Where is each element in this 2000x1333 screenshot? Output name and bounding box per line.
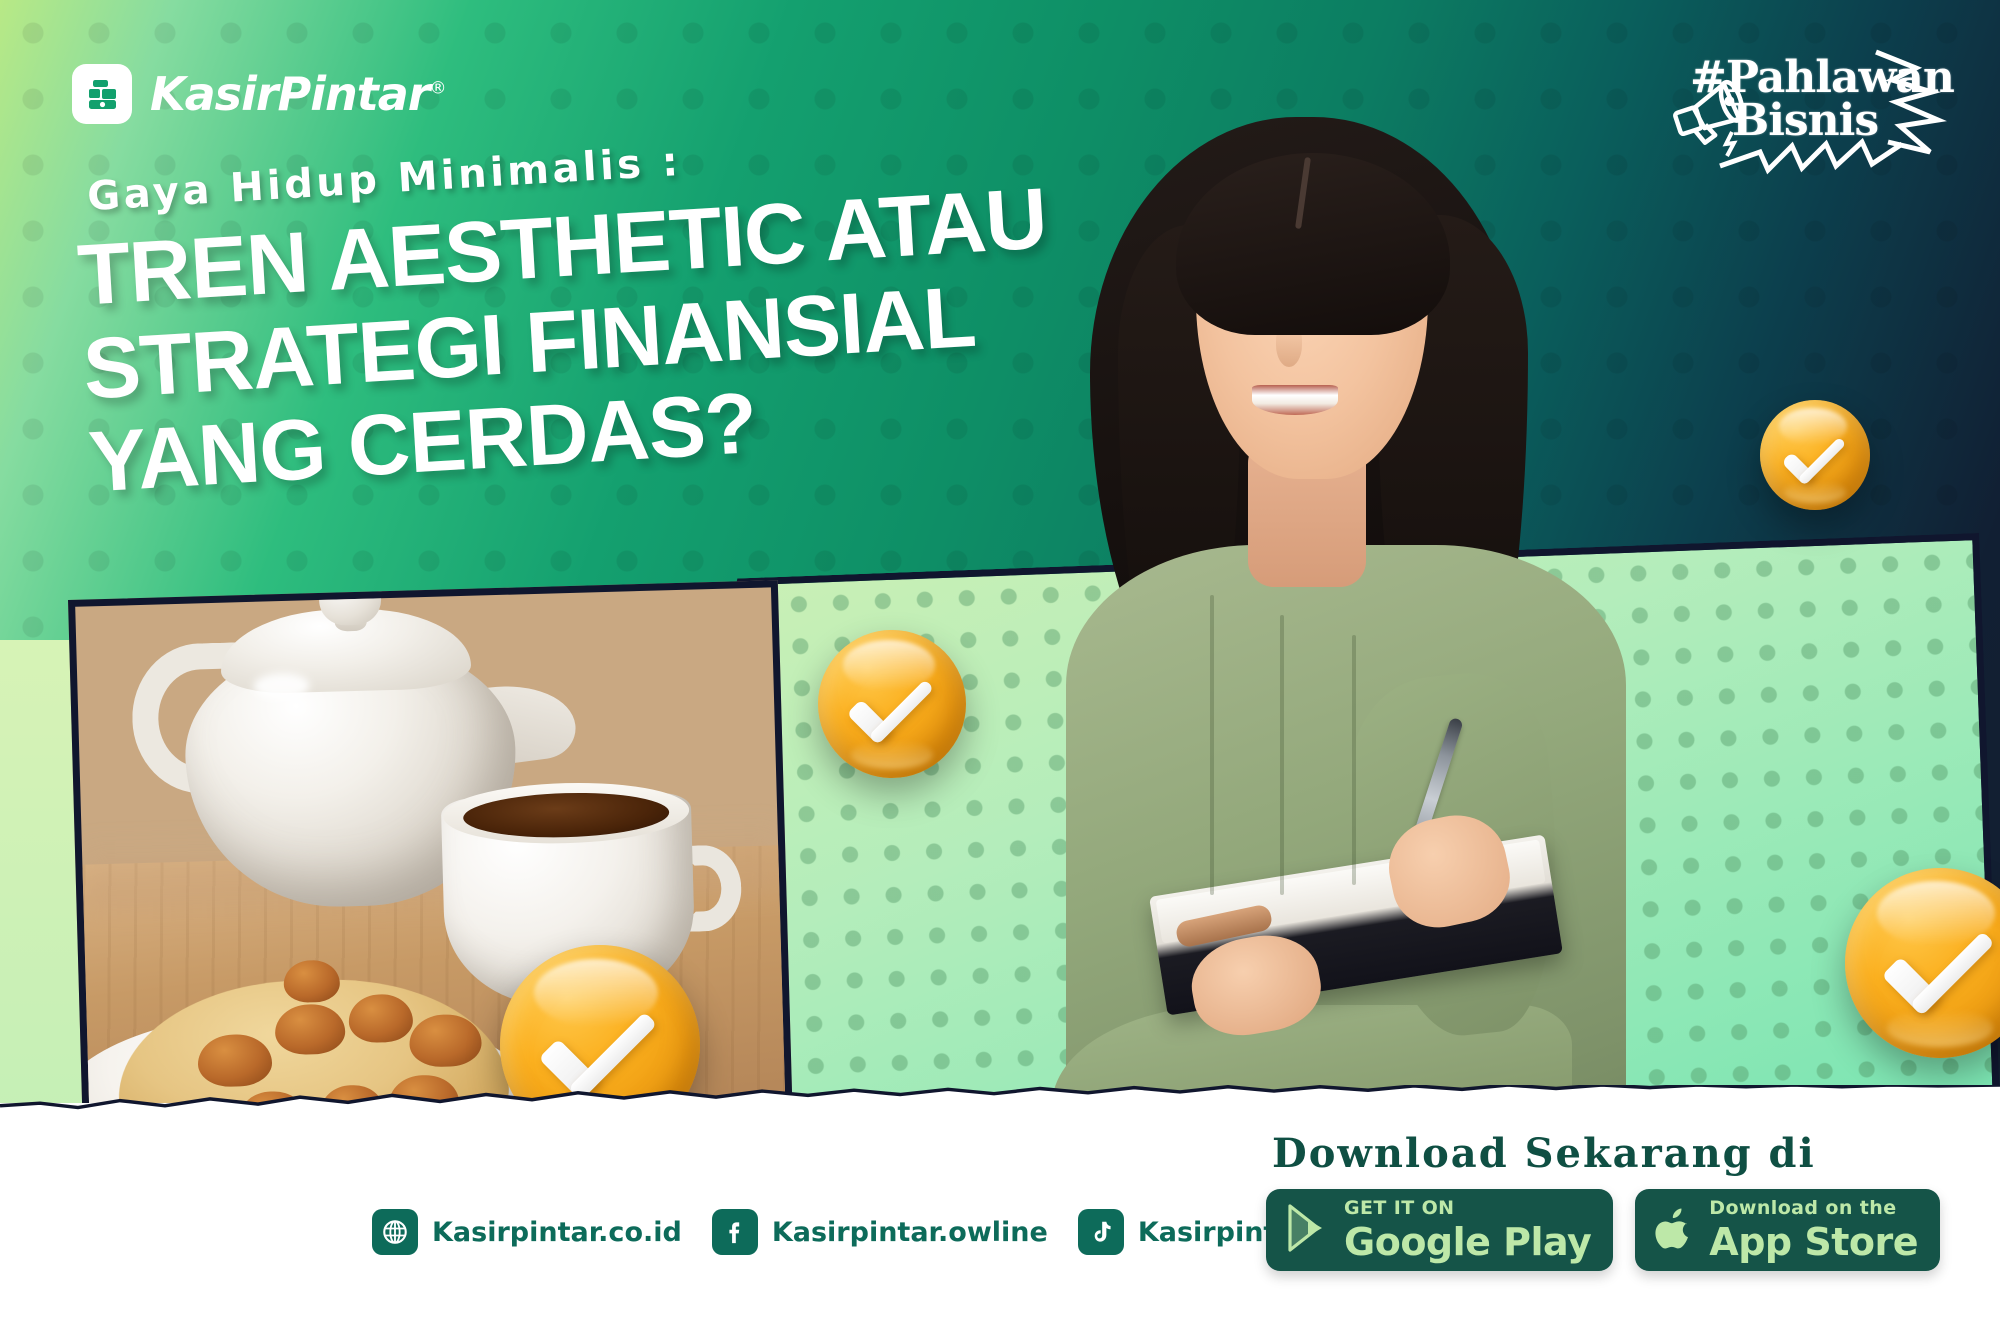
app-store-main-label: App Store <box>1709 1223 1918 1261</box>
apple-icon <box>1653 1203 1695 1258</box>
app-store-button[interactable]: Download on the App Store <box>1635 1189 1940 1271</box>
headline-block: Gaya Hidup Minimalis : TREN AESTHETIC AT… <box>72 117 1060 513</box>
social-label-facebook: Kasirpintar.owline <box>772 1217 1048 1248</box>
social-label-website: Kasirpintar.co.id <box>432 1217 682 1248</box>
check-circle-icon <box>1760 400 1870 510</box>
globe-icon <box>372 1209 418 1255</box>
check-circle-icon <box>818 630 966 778</box>
tiktok-icon <box>1078 1209 1124 1255</box>
google-play-top-label: GET IT ON <box>1344 1199 1591 1218</box>
campaign-badge-text: #Pahlawan Bisnis <box>1690 56 1954 142</box>
google-play-button[interactable]: GET IT ON Google Play <box>1266 1189 1613 1271</box>
google-play-main-label: Google Play <box>1344 1223 1591 1261</box>
download-section: Download Sekarang di GET IT ON Google Pl… <box>1266 1130 1940 1271</box>
model-photo <box>980 75 1700 1215</box>
app-store-top-label: Download on the <box>1709 1199 1918 1218</box>
brand-logo[interactable]: KasirPintar® <box>72 64 445 124</box>
social-link-facebook[interactable]: Kasirpintar.owline <box>712 1209 1048 1255</box>
cash-register-icon <box>72 64 132 124</box>
facebook-icon <box>712 1209 758 1255</box>
campaign-line-2: Bisnis <box>1732 99 1954 142</box>
brand-name: KasirPintar® <box>150 67 445 121</box>
download-title: Download Sekarang di <box>1272 1130 1940 1177</box>
google-play-icon <box>1284 1203 1330 1258</box>
campaign-badge: #Pahlawan Bisnis <box>1664 34 1964 194</box>
brand-name-text: KasirPintar <box>150 67 429 121</box>
registered-mark: ® <box>429 79 445 99</box>
promo-banner: KasirPintar® #Pahlawan Bisnis G <box>0 0 2000 1333</box>
torn-paper-edge <box>0 1085 2000 1111</box>
social-link-website[interactable]: Kasirpintar.co.id <box>372 1209 682 1255</box>
